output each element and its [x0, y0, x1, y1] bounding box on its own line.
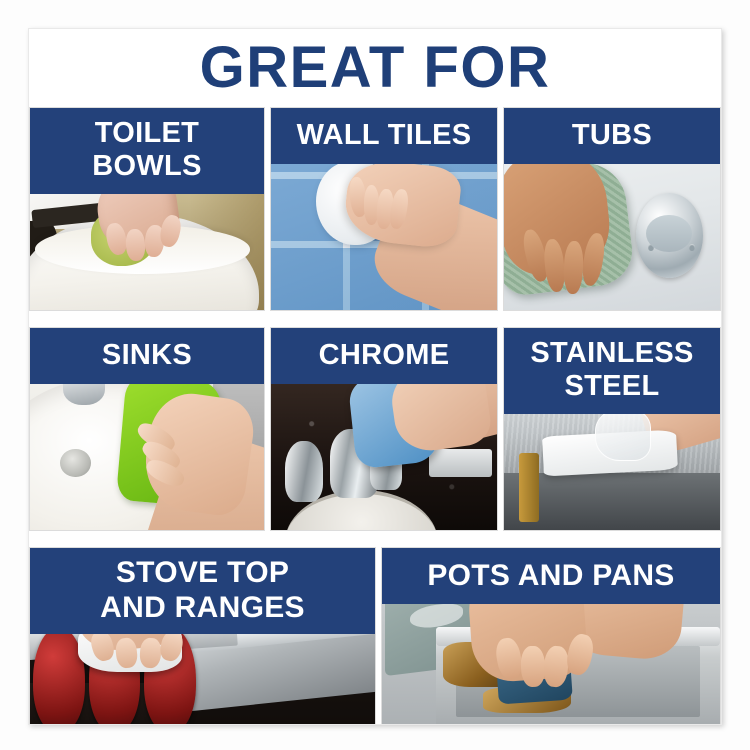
- poster-header: GREAT FOR: [29, 29, 721, 107]
- feature-row-2: SINKS: [29, 327, 721, 531]
- feature-label-tubs: TUBS: [504, 108, 720, 164]
- feature-label-line: TOILET: [95, 117, 199, 149]
- feature-tile-pots-and-pans[interactable]: POTS AND PANS: [381, 547, 721, 725]
- feature-label-line: STOVE TOP: [116, 556, 289, 589]
- feature-tile-stove-top-and-ranges[interactable]: STOVE TOP AND RANGES: [29, 547, 376, 725]
- feature-label-pots-and-pans: POTS AND PANS: [382, 548, 720, 604]
- feature-label-line: CHROME: [319, 339, 450, 372]
- feature-tile-wall-tiles[interactable]: WALL TILES: [270, 107, 498, 311]
- poster-page: GREAT FOR: [0, 0, 750, 750]
- feature-tile-sinks[interactable]: SINKS: [29, 327, 265, 531]
- feature-tile-toilet-bowls[interactable]: TOILET BOWLS: [29, 107, 265, 311]
- poster-card: GREAT FOR: [28, 28, 722, 725]
- feature-label-line: WALL TILES: [297, 119, 472, 152]
- feature-row-3: STOVE TOP AND RANGES: [29, 547, 721, 725]
- feature-tile-chrome[interactable]: CHROME: [270, 327, 498, 531]
- feature-label-line: BOWLS: [92, 150, 201, 182]
- feature-label-stove-top-and-ranges: STOVE TOP AND RANGES: [30, 548, 375, 634]
- feature-row-1: TOILET BOWLS: [29, 107, 721, 311]
- page-title: GREAT FOR: [200, 39, 551, 97]
- feature-label-line: TUBS: [572, 119, 652, 152]
- feature-tile-stainless-steel[interactable]: STAINLESS STEEL: [503, 327, 721, 531]
- feature-label-line: AND RANGES: [100, 591, 305, 624]
- row-gap: [29, 311, 721, 327]
- feature-label-line: STEEL: [565, 370, 660, 402]
- feature-label-wall-tiles: WALL TILES: [271, 108, 497, 164]
- feature-grid: TOILET BOWLS: [29, 107, 721, 725]
- feature-label-stainless-steel: STAINLESS STEEL: [504, 328, 720, 414]
- feature-label-line: SINKS: [102, 339, 192, 372]
- feature-label-sinks: SINKS: [30, 328, 264, 384]
- feature-label-chrome: CHROME: [271, 328, 497, 384]
- row-gap: [29, 531, 721, 547]
- feature-label-line: POTS AND PANS: [427, 558, 674, 593]
- feature-tile-tubs[interactable]: TUBS: [503, 107, 721, 311]
- feature-label-toilet-bowls: TOILET BOWLS: [30, 108, 264, 194]
- feature-label-line: STAINLESS: [530, 337, 693, 369]
